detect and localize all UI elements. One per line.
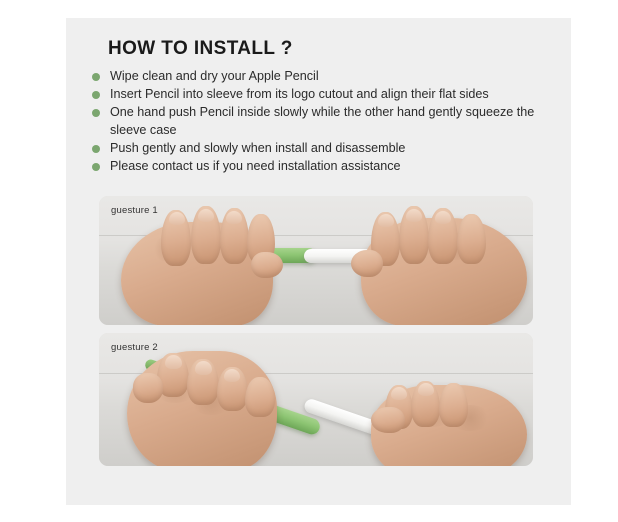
list-item: Wipe clean and dry your Apple Pencil [92,68,552,85]
page-title: HOW TO INSTALL ? [108,38,293,60]
gesture-photo-panel-1: guesture 1 [99,196,533,325]
thumb-graphic [251,252,283,278]
fingernail-graphic [169,212,185,225]
list-item-label: Please contact us if you need installati… [110,159,401,173]
panel-label: guesture 2 [111,342,158,353]
fingernail-graphic [198,209,214,222]
install-steps-list: Wipe clean and dry your Apple Pencil Ins… [92,68,552,176]
thumb-graphic [371,407,405,433]
finger-graphic [439,383,468,427]
list-item-label: Insert Pencil into sleeve from its logo … [110,87,489,101]
fingernail-graphic [418,383,434,396]
thumb-graphic [351,250,383,277]
gesture-photo-panel-2: guesture 2 [99,333,533,466]
list-item: Please contact us if you need installati… [92,158,552,175]
thumb-graphic [133,373,163,403]
fingernail-graphic [165,355,182,369]
bullet-icon [92,109,100,117]
fingernail-graphic [195,361,212,375]
fingernail-graphic [406,209,422,222]
list-item: Push gently and slowly when install and … [92,140,552,157]
bullet-icon [92,163,100,171]
list-item: One hand push Pencil inside slowly while… [92,104,552,138]
bullet-icon [92,145,100,153]
bullet-icon [92,91,100,99]
finger-graphic [457,214,486,264]
finger-graphic [245,377,275,417]
install-instructions-card: HOW TO INSTALL ? Wipe clean and dry your… [66,18,571,505]
bullet-icon [92,73,100,81]
list-item: Insert Pencil into sleeve from its logo … [92,86,552,103]
list-item-label: Wipe clean and dry your Apple Pencil [110,69,319,83]
fingernail-graphic [435,211,451,224]
fingernail-graphic [224,369,240,382]
fingernail-graphic [378,214,394,227]
list-item-label: Push gently and slowly when install and … [110,141,405,155]
list-item-label: One hand push Pencil inside slowly while… [110,105,534,136]
panel-label: guesture 1 [111,205,158,216]
fingernail-graphic [391,387,407,400]
fingernail-graphic [226,211,242,224]
